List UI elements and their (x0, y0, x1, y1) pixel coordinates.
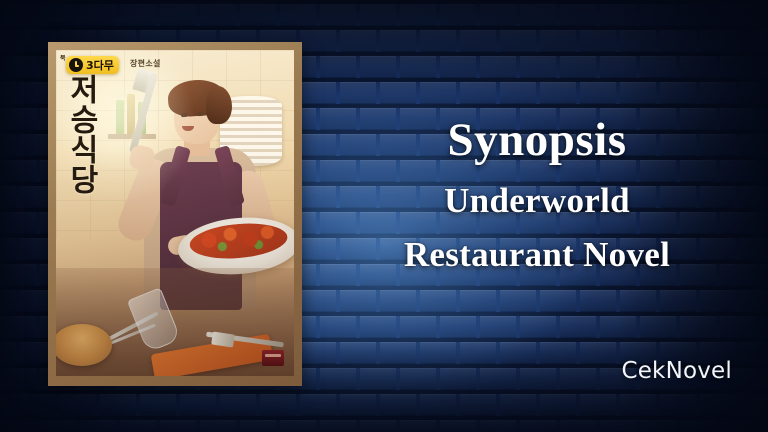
headline-line-1: Synopsis (306, 117, 768, 164)
stir-fried-food (188, 220, 289, 262)
cover-korean-title: 저승식당 (66, 74, 95, 210)
badge-label: 3다무 (86, 60, 114, 71)
chef-hair-back (206, 86, 232, 124)
book-cover-artwork: 3다무 북 장편소설 저승식당 (56, 50, 294, 376)
clock-icon (69, 58, 83, 72)
site-watermark: CekNovel (621, 358, 732, 384)
cover-genre-label: 장편소설 (130, 58, 161, 69)
book-cover: 3다무 북 장편소설 저승식당 (48, 42, 302, 386)
badge-mini-mark: 북 (60, 53, 66, 62)
banner-image: 3다무 북 장편소설 저승식당 Synopsis Underworld Rest… (0, 0, 768, 432)
headline-line-2: Underworld (306, 183, 768, 218)
headline-line-3: Restaurant Novel (306, 237, 768, 272)
publisher-logo-icon (262, 350, 284, 366)
bottle-icon (127, 94, 135, 134)
cover-badge: 3다무 (66, 56, 119, 74)
bottle-icon (116, 100, 124, 134)
